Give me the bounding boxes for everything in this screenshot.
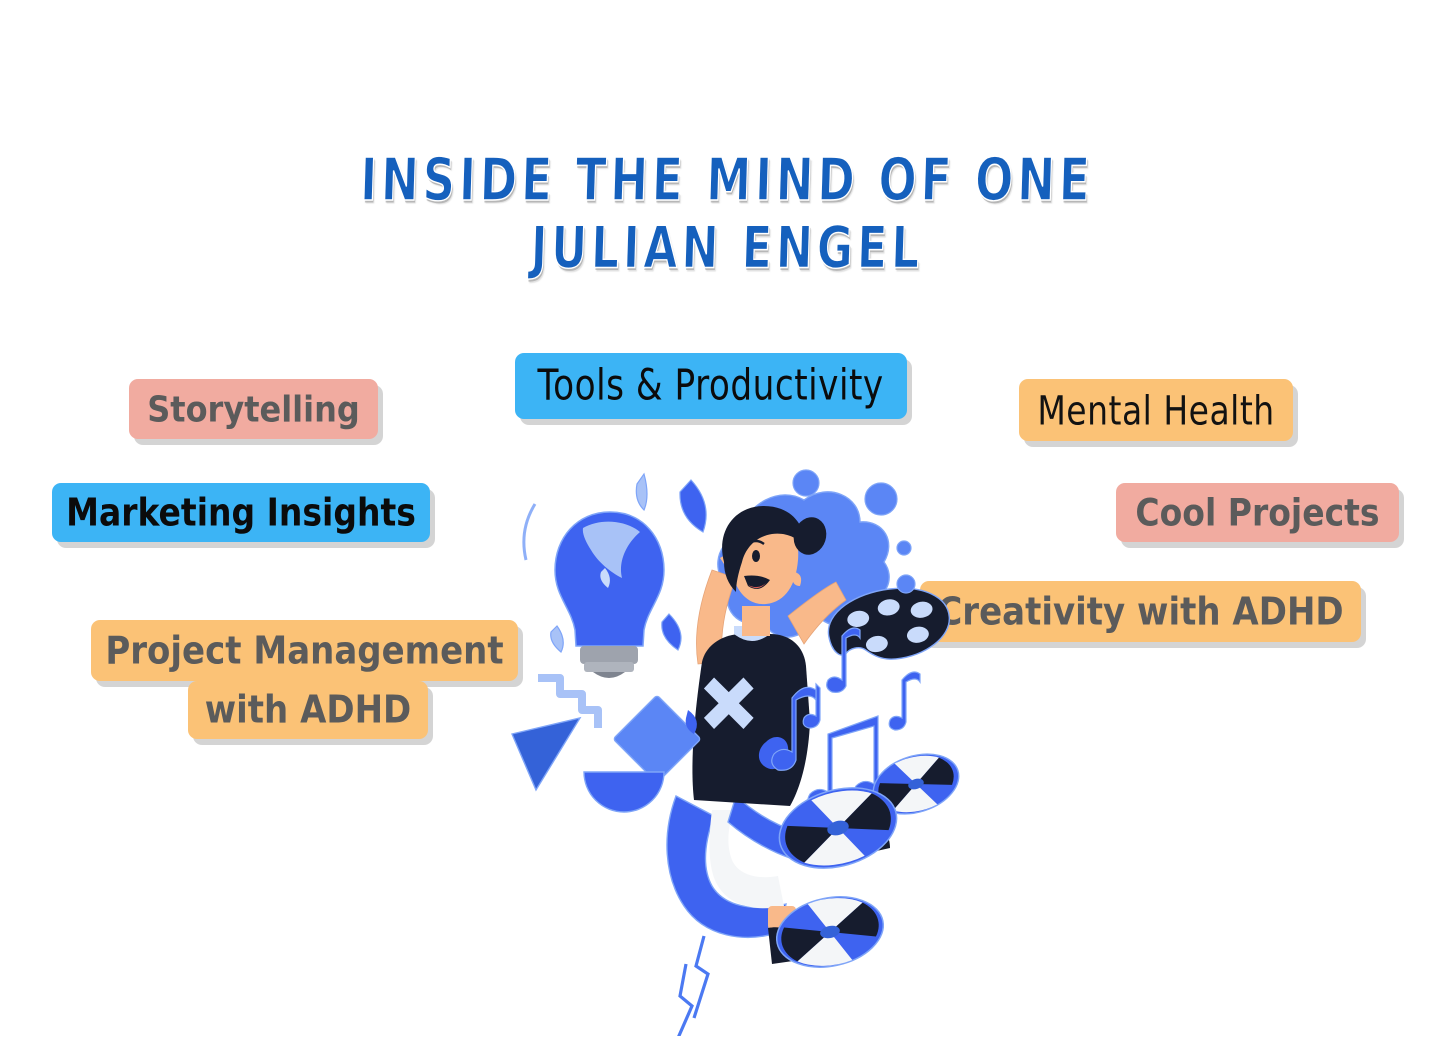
bottom-squiggle-lines (678, 936, 708, 1036)
topic-chip-cool-projects-label: Cool Projects (1135, 494, 1379, 531)
topic-chip-project-management-label-line-2: with ADHD (205, 691, 412, 729)
creative-person-illustration (498, 466, 968, 1036)
topic-chip-mental-health[interactable]: Mental Health (1019, 379, 1293, 441)
page-title-line-1: INSIDE THE MIND OF ONE (0, 148, 1456, 213)
topic-chip-storytelling[interactable]: Storytelling (129, 379, 378, 439)
topic-chip-creativity-with-adhd-label: Creativity with ADHD (937, 592, 1343, 630)
lightbulb-icon (555, 512, 664, 678)
triangle-shape (512, 718, 580, 790)
topic-chip-mental-health-label: Mental Health (1037, 390, 1274, 430)
topic-chip-tools-productivity-label: Tools & Productivity (538, 365, 884, 408)
semicircle-shape (584, 772, 664, 812)
geometric-shapes (512, 678, 701, 812)
page-title-line-2: JULIAN ENGEL (0, 217, 1456, 281)
topic-chip-tools-productivity[interactable]: Tools & Productivity (515, 353, 907, 419)
page-title: INSIDE THE MIND OF ONE JULIAN ENGEL (0, 148, 1456, 271)
topic-chip-storytelling-label: Storytelling (147, 391, 360, 427)
topic-chip-marketing-insights-label: Marketing Insights (66, 494, 416, 532)
topic-chip-creativity-with-adhd[interactable]: Creativity with ADHD (920, 581, 1361, 642)
topic-chip-project-management-label-line-1: Project Management (105, 631, 503, 669)
topic-chip-marketing-insights[interactable]: Marketing Insights (52, 483, 430, 542)
diamond-shape (613, 695, 701, 783)
topic-chip-project-management-line-1[interactable]: Project Management (91, 620, 518, 681)
topic-chip-project-management-line-2[interactable]: with ADHD (188, 681, 428, 739)
topic-chip-cool-projects[interactable]: Cool Projects (1116, 483, 1399, 542)
